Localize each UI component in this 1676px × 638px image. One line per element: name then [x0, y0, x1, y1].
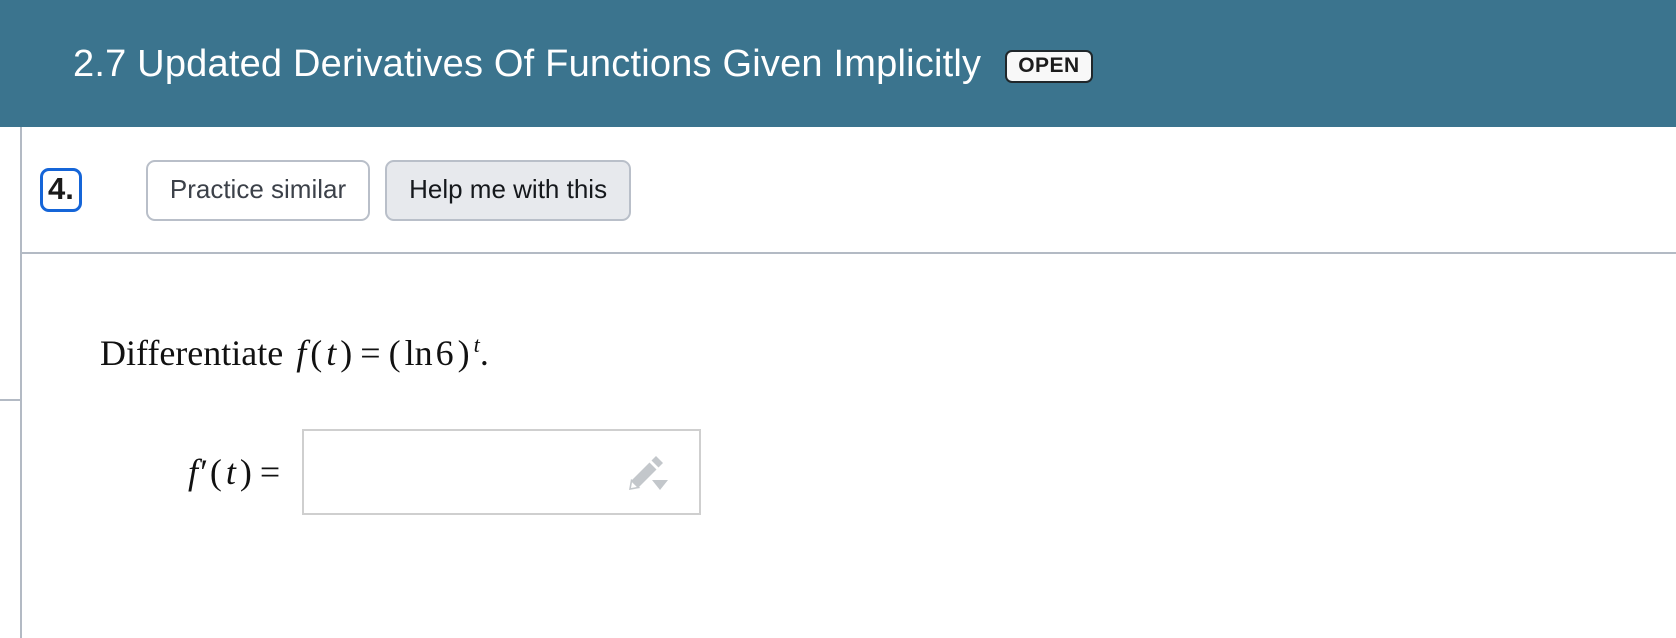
left-rail-stub — [0, 399, 21, 401]
expr-open-paren: ( — [306, 333, 326, 373]
question-body: Differentiate f(t)=(ln 6)t. f′(t)= — [22, 254, 1676, 638]
answer-prime: ′ — [198, 452, 206, 492]
answer-label: f′(t)= — [188, 451, 284, 493]
pencil-icon[interactable] — [625, 450, 669, 494]
answer-close-paren: ) — [236, 452, 256, 492]
question-prompt: Differentiate f(t)=(ln 6)t. — [100, 332, 489, 374]
answer-function-name: f — [188, 452, 198, 492]
help-me-with-this-button[interactable]: Help me with this — [385, 160, 631, 221]
expr-body-open-paren: ( — [385, 333, 405, 373]
prompt-expression: f(t)=(ln 6)t. — [296, 332, 489, 374]
problem-number[interactable]: 4. — [40, 168, 82, 212]
practice-similar-button[interactable]: Practice similar — [146, 160, 370, 221]
expr-variable: t — [326, 333, 336, 373]
prompt-text: Differentiate — [100, 332, 283, 374]
problem-toolbar: 4. Practice similar Help me with this — [22, 127, 1676, 253]
expr-log-operator: ln — [405, 333, 433, 373]
answer-equals: = — [256, 452, 284, 492]
expr-period: . — [480, 333, 489, 373]
answer-row: f′(t)= — [188, 429, 701, 515]
expr-equals: = — [356, 333, 384, 373]
expr-close-paren: ) — [336, 333, 356, 373]
answer-variable: t — [226, 452, 236, 492]
expr-body-close-paren: ) — [454, 333, 474, 373]
answer-open-paren: ( — [206, 452, 226, 492]
page-title: 2.7 Updated Derivatives Of Functions Giv… — [73, 45, 981, 83]
page-header: 2.7 Updated Derivatives Of Functions Giv… — [0, 0, 1676, 127]
caret-down-icon — [652, 480, 668, 490]
answer-input[interactable] — [302, 429, 701, 515]
expr-log-argument: 6 — [436, 333, 454, 373]
expr-function-name: f — [296, 333, 306, 373]
status-badge-open: OPEN — [1005, 50, 1093, 83]
